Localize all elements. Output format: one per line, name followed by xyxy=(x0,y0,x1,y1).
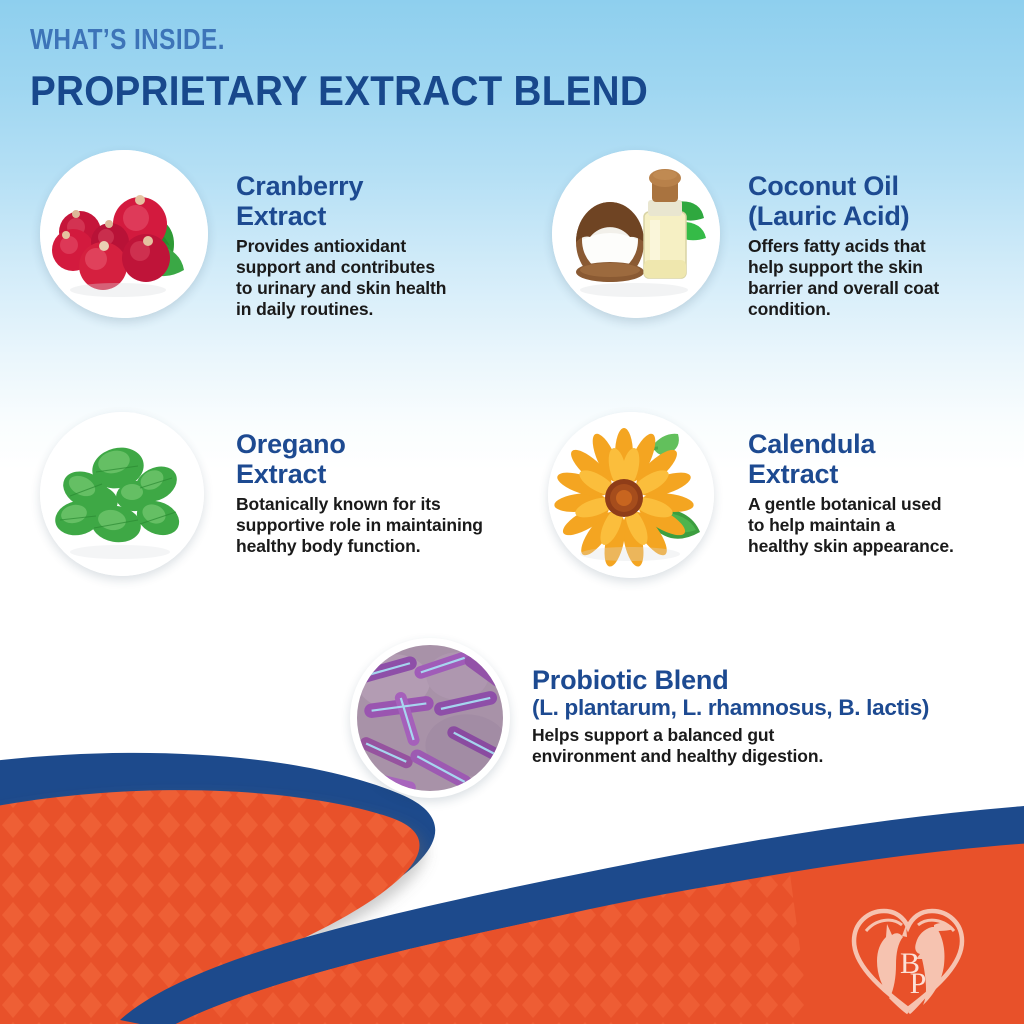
calendula-flower-photo-icon xyxy=(548,412,714,578)
desc-line: condition. xyxy=(748,299,1024,320)
oregano-thumbnail xyxy=(40,412,204,576)
desc-line: healthy skin appearance. xyxy=(748,536,1024,557)
cranberries-photo-icon xyxy=(40,150,208,318)
probiotic-thumbnail xyxy=(350,638,510,798)
cranberry-text: Cranberry Extract Provides antioxidant s… xyxy=(236,172,536,320)
calendula-text: Calendula Extract A gentle botanical use… xyxy=(748,430,1024,557)
coconut-oil-text: Coconut Oil (Lauric Acid) Offers fatty a… xyxy=(748,172,1024,320)
infographic-canvas: WHAT’S INSIDE. PROPRIETARY EXTRACT BLEND xyxy=(0,0,1024,1024)
oregano-title-line2: Extract xyxy=(236,460,566,490)
desc-line: support and contributes xyxy=(236,257,536,278)
probiotic-description: Helps support a balanced gut environment… xyxy=(532,725,1024,767)
bp-cat-dog-heart-logo: B P xyxy=(846,897,974,1015)
probiotic-text: Probiotic Blend (L. plantarum, L. rhamno… xyxy=(532,666,1024,767)
header-block: WHAT’S INSIDE. PROPRIETARY EXTRACT BLEND xyxy=(30,24,702,115)
probiotic-bacteria-micrograph-icon xyxy=(357,645,503,791)
calendula-title-line2: Extract xyxy=(748,460,1024,490)
calendula-thumbnail xyxy=(548,412,714,578)
probiotic-title: Probiotic Blend (L. plantarum, L. rhamno… xyxy=(532,666,1024,720)
desc-line: environment and healthy digestion. xyxy=(532,746,1024,767)
desc-line: to help maintain a xyxy=(748,515,1024,536)
cranberry-title-line1: Cranberry xyxy=(236,171,363,201)
calendula-title-line1: Calendula xyxy=(748,429,875,459)
desc-line: help support the skin xyxy=(748,257,1024,278)
oregano-leaves-photo-icon xyxy=(40,412,204,576)
page-title: PROPRIETARY EXTRACT BLEND xyxy=(30,67,648,115)
kicker-text: WHAT’S INSIDE. xyxy=(30,24,594,57)
desc-line: Provides antioxidant xyxy=(236,236,536,257)
oregano-text: Oregano Extract Botanically known for it… xyxy=(236,430,566,557)
coconut-oil-description: Offers fatty acids that help support the… xyxy=(748,236,1024,320)
desc-line: supportive role in maintaining xyxy=(236,515,566,536)
probiotic-title-line2: (L. plantarum, L. rhamnosus, B. lactis) xyxy=(532,696,1024,721)
desc-line: Botanically known for its xyxy=(236,494,566,515)
desc-line: Helps support a balanced gut xyxy=(532,725,1024,746)
cranberry-title-line2: Extract xyxy=(236,202,536,232)
logo-monogram-p: P xyxy=(910,967,927,1000)
cranberry-thumbnail xyxy=(40,150,208,318)
desc-line: A gentle botanical used xyxy=(748,494,1024,515)
calendula-title: Calendula Extract xyxy=(748,430,1024,489)
coconut-and-oil-bottle-photo-icon xyxy=(552,150,720,318)
probiotic-title-line1: Probiotic Blend xyxy=(532,666,1024,696)
cranberry-description: Provides antioxidant support and contrib… xyxy=(236,236,536,320)
desc-line: to urinary and skin health xyxy=(236,278,536,299)
coconut-oil-title-line2: (Lauric Acid) xyxy=(748,202,1024,232)
oregano-description: Botanically known for its supportive rol… xyxy=(236,494,566,557)
calendula-description: A gentle botanical used to help maintain… xyxy=(748,494,1024,557)
oregano-title: Oregano Extract xyxy=(236,430,566,489)
desc-line: barrier and overall coat xyxy=(748,278,1024,299)
cranberry-title: Cranberry Extract xyxy=(236,172,536,231)
desc-line: in daily routines. xyxy=(236,299,536,320)
desc-line: Offers fatty acids that xyxy=(748,236,1024,257)
coconut-oil-title-line1: Coconut Oil xyxy=(748,171,899,201)
coconut-oil-thumbnail xyxy=(552,150,720,318)
oregano-title-line1: Oregano xyxy=(236,429,346,459)
coconut-oil-title: Coconut Oil (Lauric Acid) xyxy=(748,172,1024,231)
desc-line: healthy body function. xyxy=(236,536,566,557)
